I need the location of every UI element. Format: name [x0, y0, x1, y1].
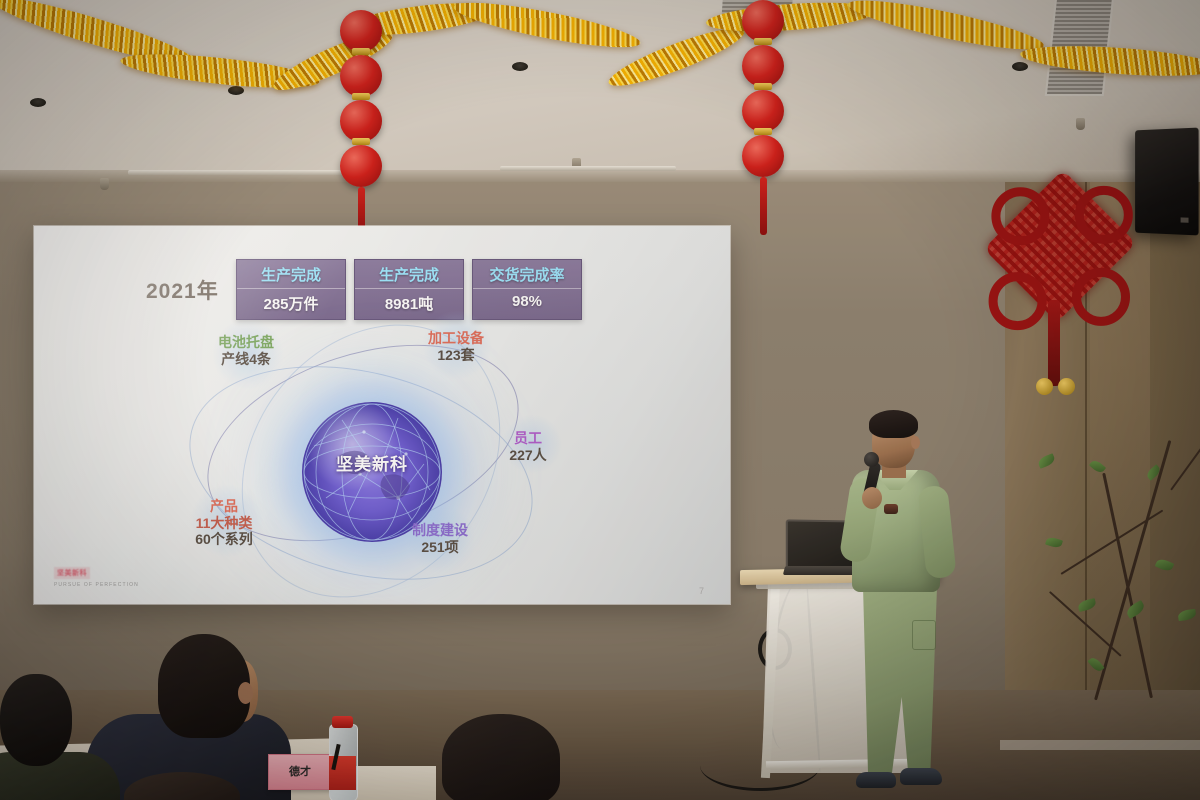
lantern-string-right — [740, 0, 786, 235]
node-value-secondary: 60个系列 — [176, 531, 272, 548]
lantern-string-left — [338, 10, 384, 245]
projection-screen: 2021年 生产完成 285万件 生产完成 8981吨 交货完成率 98% — [34, 226, 730, 604]
lantern-cap-icon — [754, 83, 772, 90]
lantern-cap-icon — [754, 38, 772, 45]
lantern-cap-icon — [352, 48, 370, 55]
globe-center-label: 坚美新科 — [302, 450, 442, 475]
skirting-board — [1000, 740, 1200, 750]
presenter-wristwatch — [884, 504, 898, 514]
presenter-ear — [911, 436, 920, 449]
lantern-cap-icon — [352, 93, 370, 100]
node-products: 产品 11大种类 60个系列 — [176, 498, 272, 548]
node-value: 产线4条 — [200, 351, 292, 368]
stat-card-production-units: 生产完成 285万件 — [236, 259, 346, 320]
presentation-photo-scene: 2021年 生产完成 285万件 生产完成 8981吨 交货完成率 98% — [0, 0, 1200, 800]
speaker-led-icon — [1181, 217, 1189, 222]
audience-head — [0, 674, 72, 766]
slide-surface: 2021年 生产完成 285万件 生产完成 8981吨 交货完成率 98% — [34, 226, 730, 604]
node-title: 制度建设 — [392, 522, 488, 539]
desk-name-card: 德才 — [268, 754, 332, 790]
microphone-head-icon — [864, 452, 879, 467]
lantern-ball-icon — [742, 0, 784, 42]
wall-speaker — [1135, 128, 1198, 236]
audience-ear — [238, 682, 253, 704]
lantern-ball-icon — [340, 10, 382, 52]
knot-bead-icon — [1058, 378, 1075, 395]
chinese-knot-decoration — [984, 170, 1137, 323]
slide-year-label: 2021年 — [146, 275, 219, 305]
node-title: 员工 — [486, 430, 570, 447]
node-value: 227人 — [486, 447, 570, 464]
name-card-text: 德才 — [269, 755, 331, 789]
slide-brand-logo: 坚美新科 PURSUE OF PERFECTION — [54, 562, 139, 588]
knot-tassel — [1048, 300, 1060, 386]
lantern-ball-icon — [340, 145, 382, 187]
lantern-ball-icon — [742, 135, 784, 177]
downlight-icon — [1012, 62, 1028, 71]
ceiling-rail — [128, 170, 344, 175]
node-title: 产品 — [176, 498, 272, 515]
node-value: 123套 — [408, 347, 504, 364]
node-value: 251项 — [392, 539, 488, 556]
node-value: 11大种类 — [176, 515, 272, 532]
sprinkler-icon — [100, 178, 109, 190]
stat-title: 交货完成率 — [473, 260, 581, 289]
sprinkler-icon — [1076, 118, 1085, 130]
downlight-icon — [30, 98, 46, 107]
audience-head — [158, 634, 250, 738]
lantern-ball-icon — [340, 55, 382, 97]
lantern-cap-icon — [754, 128, 772, 135]
logo-tagline: PURSUE OF PERFECTION — [54, 582, 139, 588]
downlight-icon — [228, 86, 244, 95]
node-processing-equipment: 加工设备 123套 — [408, 330, 504, 363]
stat-value: 285万件 — [237, 289, 345, 319]
lantern-ball-icon — [742, 45, 784, 87]
knot-bead-icon — [1036, 378, 1053, 395]
node-title: 电池托盘 — [200, 334, 292, 351]
node-battery-tray: 电池托盘 产线4条 — [200, 334, 292, 367]
presenter-pocket — [912, 620, 936, 650]
presenter-hand — [862, 487, 882, 509]
audience-head — [442, 714, 560, 800]
stat-title: 生产完成 — [355, 260, 463, 289]
presenter-shoe — [900, 768, 942, 785]
downlight-icon — [512, 62, 528, 71]
lantern-ball-icon — [742, 90, 784, 132]
stat-value: 98% — [473, 289, 581, 315]
slide-page-number: 7 — [699, 586, 704, 596]
slide-stat-row: 生产完成 285万件 生产完成 8981吨 交货完成率 98% — [236, 259, 582, 320]
node-title: 加工设备 — [408, 330, 504, 347]
node-employees: 员工 227人 — [486, 430, 570, 463]
stat-card-delivery-rate: 交货完成率 98% — [472, 259, 582, 320]
water-bottle-cap — [332, 716, 353, 728]
node-system-construction: 制度建设 251项 — [392, 522, 488, 555]
lantern-cap-icon — [352, 138, 370, 145]
presenter-shoe — [856, 772, 896, 788]
lantern-ball-icon — [340, 100, 382, 142]
ceiling-rail — [500, 166, 676, 171]
lantern-tassel-icon — [760, 177, 767, 235]
logo-mark: 坚美新科 — [54, 567, 90, 579]
presenter-hair — [869, 410, 918, 438]
stat-title: 生产完成 — [237, 260, 345, 289]
